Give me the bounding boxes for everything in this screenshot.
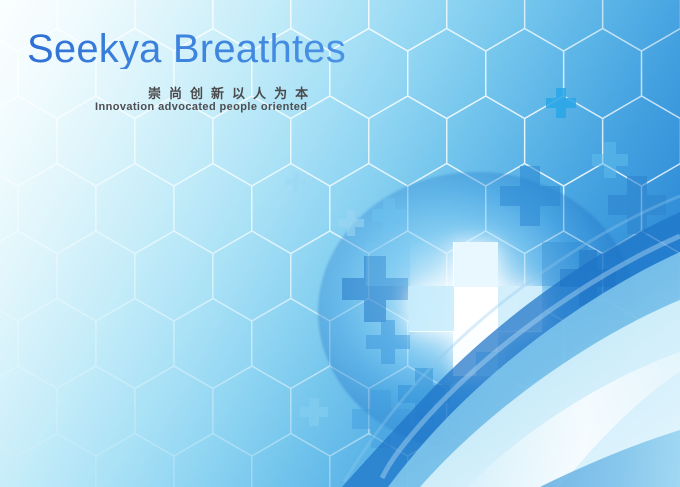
- page-title: Seekya Breathtes: [27, 29, 346, 69]
- slogan-english: Innovation advocated people oriented: [95, 101, 307, 113]
- slogan-chinese: 崇 尚 创 新 以 人 为 本: [148, 83, 310, 102]
- cross-shape: [546, 88, 576, 118]
- poster-canvas: Seekya Breathtes 崇 尚 创 新 以 人 为 本 Innovat…: [0, 0, 680, 487]
- cross-shape: [286, 172, 306, 192]
- cross-shape: [608, 176, 666, 234]
- medical-cross-icon: [409, 242, 542, 376]
- cross-shape: [636, 456, 672, 487]
- cross-shape: [300, 398, 328, 426]
- cross-shape: [592, 142, 628, 178]
- ribbon-bottom-edge: [540, 430, 680, 487]
